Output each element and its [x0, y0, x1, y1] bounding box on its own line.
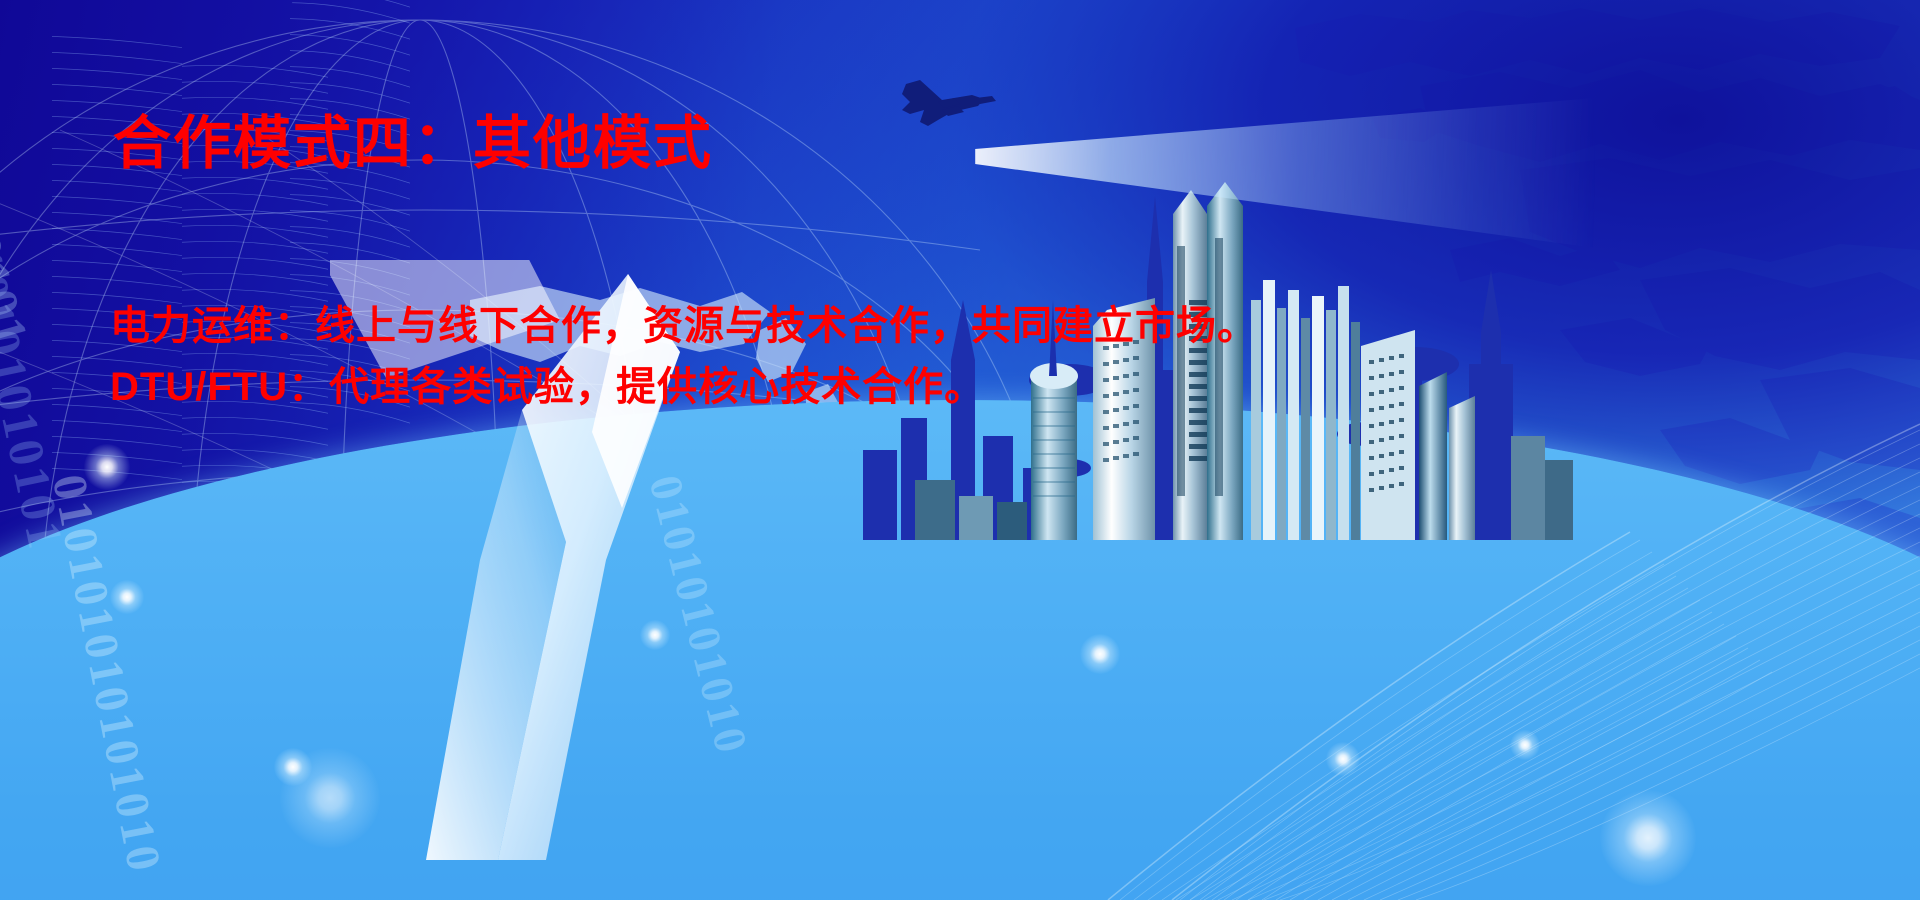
airplane-icon [880, 68, 1000, 138]
body-line: 电力运维：线上与线下合作，资源与技术合作，共同建立市场。 [110, 296, 1630, 357]
presentation-slide: 0101010101 010101010101 010101010101010 … [0, 0, 1920, 900]
body-line: DTU/FTU：代理各类试验，提供核心技术合作。 [110, 357, 1630, 418]
slide-title: 合作模式四：其他模式 [113, 112, 713, 176]
slide-body: 电力运维：线上与线下合作，资源与技术合作，共同建立市场。 DTU/FTU：代理各… [110, 296, 1630, 418]
